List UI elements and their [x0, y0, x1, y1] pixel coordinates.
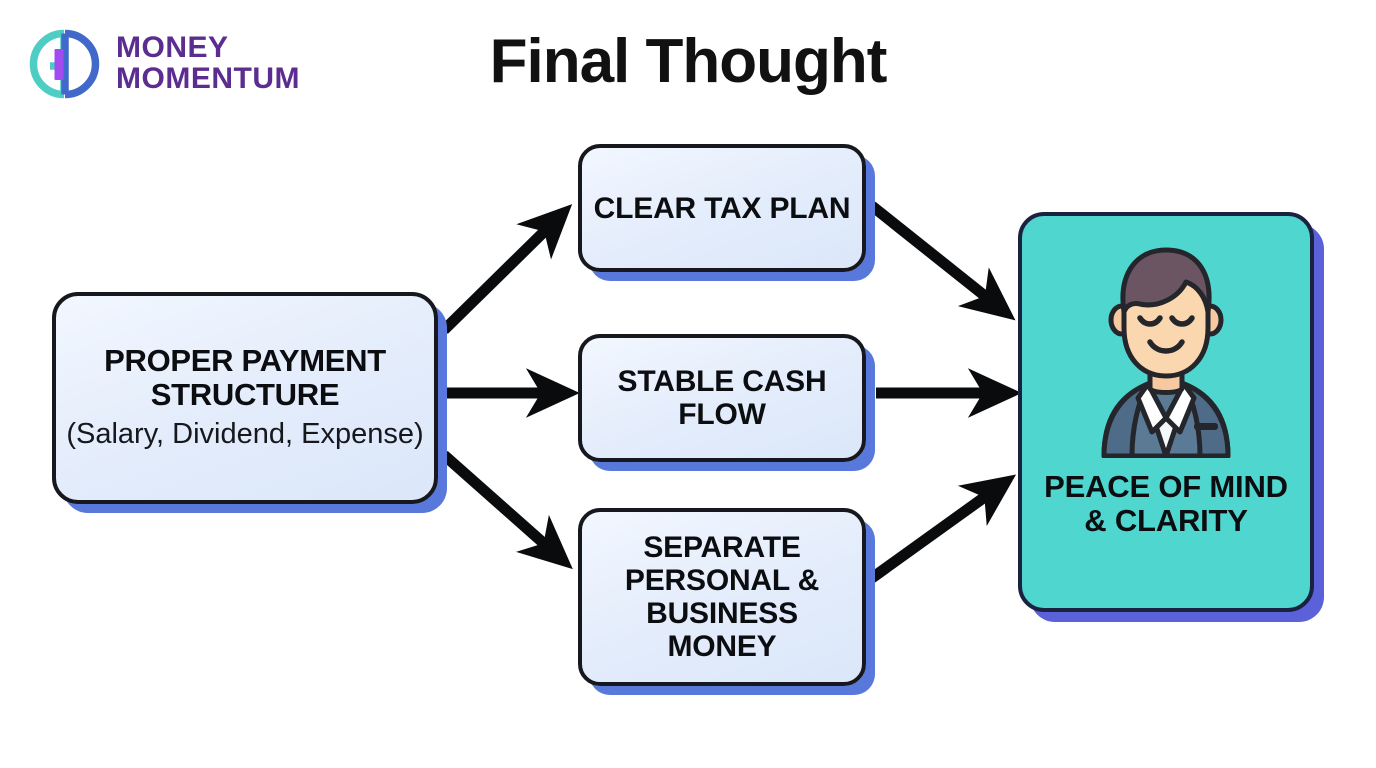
arrow-separate-to-outcome — [872, 486, 1000, 578]
arrow-source-to-tax — [444, 218, 558, 330]
node-title: STABLE CASH FLOW — [592, 365, 852, 431]
node-stable-cash-flow[interactable]: STABLE CASH FLOW — [578, 334, 866, 462]
node-peace-of-mind-clarity[interactable]: PEACE OF MIND & CLARITY — [1018, 212, 1314, 612]
slide-canvas: MONEY MOMENTUM Final Thought PROPER PAYM… — [0, 0, 1376, 768]
node-proper-payment-structure[interactable]: PROPER PAYMENT STRUCTURE (Salary, Divide… — [52, 292, 438, 504]
arrow-tax-to-outcome — [872, 206, 1000, 308]
arrow-source-to-separate — [444, 455, 558, 556]
brand-logo: MONEY MOMENTUM — [18, 22, 300, 106]
brand-line-1: MONEY — [116, 33, 300, 64]
money-momentum-logo-icon — [18, 22, 102, 106]
node-separate-personal-business-money[interactable]: SEPARATE PERSONAL & BUSINESS MONEY — [578, 508, 866, 686]
node-title: PROPER PAYMENT STRUCTURE — [66, 344, 424, 412]
person-peaceful-avatar-icon — [1066, 242, 1266, 458]
node-clear-tax-plan[interactable]: CLEAR TAX PLAN — [578, 144, 866, 272]
node-title: SEPARATE PERSONAL & BUSINESS MONEY — [592, 531, 852, 663]
node-title: CLEAR TAX PLAN — [594, 192, 851, 225]
brand-wordmark: MONEY MOMENTUM — [116, 33, 300, 94]
node-title: PEACE OF MIND & CLARITY — [1032, 470, 1300, 538]
brand-line-2: MOMENTUM — [116, 64, 300, 95]
node-subtitle: (Salary, Dividend, Expense) — [66, 418, 423, 451]
